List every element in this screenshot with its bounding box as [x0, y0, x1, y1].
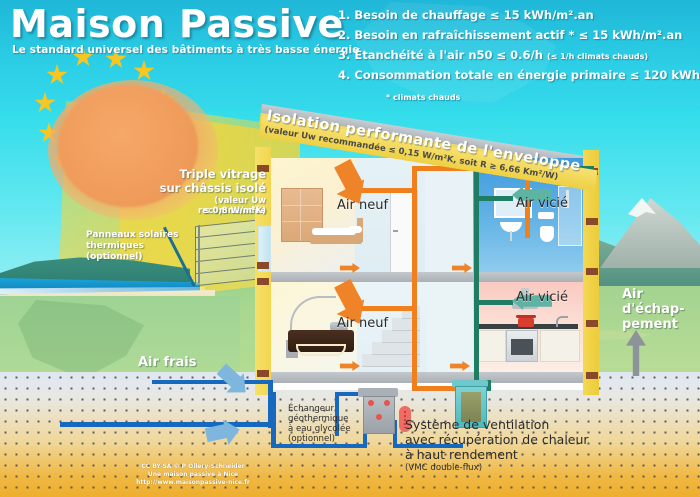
exchanger-indicator: [384, 400, 390, 406]
fresh-air-duct-vertical: [412, 166, 417, 390]
floor-slab-mid: [271, 272, 583, 282]
credit-line2: Une maison passive à Nice: [108, 471, 278, 479]
stale-air-branch-bath: [479, 196, 513, 201]
criterion-4-text: Consommation totale en énergie primaire …: [354, 68, 700, 82]
criterion-1-text: Besoin de chauffage ≤ 15 kWh/m².an: [354, 8, 593, 22]
infographic-passive-house: Isolation performante de l'enveloppe (va…: [0, 0, 700, 497]
wall-tie: [257, 370, 269, 377]
criterion-3: 3. Étanchéité à l'air n50 ≤ 0.6/h (≤ 1/h…: [338, 48, 648, 62]
pillow: [348, 226, 362, 233]
cooking-pot: [518, 318, 534, 327]
air-label-bathroom: Air vicié: [516, 196, 568, 211]
criterion-4-number: 4.: [338, 68, 350, 82]
credit-line1: CC BY-SA © P Ollery-Schneider: [108, 463, 278, 471]
criteria-footnote: * climats chauds: [386, 93, 460, 102]
kitchen-faucet: [556, 316, 568, 327]
page-title: Maison Passive: [10, 2, 344, 46]
exhaust-label-line3: pement: [622, 318, 678, 331]
fresh-air-branch-living: [355, 306, 413, 311]
wall-tie: [586, 268, 598, 275]
criterion-2-text: Besoin en rafraîchissement actif * ≤ 15 …: [354, 28, 682, 42]
sofa-cushion: [296, 344, 346, 356]
criterion-1: 1. Besoin de chauffage ≤ 15 kWh/m².an: [338, 8, 594, 22]
criterion-1-number: 1.: [338, 8, 350, 22]
criterion-3-number: 3.: [338, 48, 350, 62]
glazing-label-line1: Triple vitrage: [166, 168, 266, 181]
geothermal-caption-line2: géothermique: [288, 414, 348, 424]
air-label-kitchen: Air vicié: [516, 290, 568, 305]
page-subtitle: Le standard universel des bâtiments à tr…: [12, 44, 359, 56]
solar-label-line1: Panneaux solaires: [86, 230, 178, 240]
geothermal-caption-line3: à eau glycolée: [288, 424, 351, 434]
kitchen-cabinet-left: [478, 330, 506, 362]
oven: [506, 330, 538, 362]
floor-slab-ground: [271, 372, 583, 383]
kitchen-cabinet-right: [540, 330, 580, 362]
criterion-3-text: Étanchéité à l'air n50 ≤ 0.6/h: [354, 48, 543, 62]
room-upper-hall-2: [425, 158, 473, 272]
wall-tie: [586, 320, 598, 327]
room-lower-hall: [427, 282, 473, 372]
toilet: [540, 226, 554, 242]
wall-tie: [257, 278, 269, 285]
glazing-label-line2: sur châssis isolé: [156, 182, 266, 195]
vmc-caption-line4: (VMC double-flux): [405, 463, 482, 473]
vmc-caption-line3: à haut rendement: [405, 448, 518, 462]
criterion-2-number: 2.: [338, 28, 350, 42]
shower-cabin: [558, 186, 582, 246]
air-label-bedroom: Air neuf: [337, 198, 388, 213]
exchanger-indicator: [368, 400, 374, 406]
criterion-2: 2. Besoin en rafraîchissement actif * ≤ …: [338, 28, 682, 42]
air-label-living: Air neuf: [337, 316, 388, 331]
criterion-4: 4. Consommation totale en énergie primai…: [338, 68, 700, 82]
exchanger-indicator: [376, 414, 382, 420]
solar-label-line2: thermiques: [86, 241, 144, 251]
credit-block: CC BY-SA © P Ollery-Schneider Une maison…: [108, 463, 278, 487]
fresh-air-ground-label: Air frais: [138, 356, 197, 369]
stale-air-branch-kitchen: [479, 300, 513, 305]
exhaust-label-line1: Air: [622, 288, 643, 301]
credit-line3: http://www.maisonpassive-nice.fr: [108, 479, 278, 487]
geothermal-caption-line1: Échangeur: [288, 404, 334, 414]
glazing-sub-line2: ≤ 0,8 W/m²K): [146, 206, 266, 216]
solar-panel-post: [198, 225, 200, 283]
wall-tie: [257, 262, 269, 269]
wall-tie: [586, 372, 598, 379]
geothermal-pipe-bottom: [271, 444, 367, 448]
vmc-caption-line2: avec récupération de chaleur: [405, 433, 589, 447]
exhaust-label-line2: d'échap-: [622, 303, 685, 316]
ground-intake-pipe-upper: [152, 380, 272, 384]
toilet-cistern: [538, 212, 554, 219]
sink-pipe: [510, 231, 512, 241]
door-handle: [393, 230, 398, 232]
criterion-3-note: (≤ 1/h climats chauds): [547, 52, 648, 61]
fresh-air-branch-bedroom: [355, 188, 413, 193]
geothermal-caption-line4: (optionnel): [288, 434, 335, 444]
ground-intake-pipe-lower: [60, 422, 275, 427]
wall-tie: [586, 218, 598, 225]
vmc-caption-line1: Système de ventilation: [405, 418, 549, 432]
ground-intake-riser: [268, 380, 273, 428]
solar-label-line3: (optionnel): [86, 252, 142, 262]
